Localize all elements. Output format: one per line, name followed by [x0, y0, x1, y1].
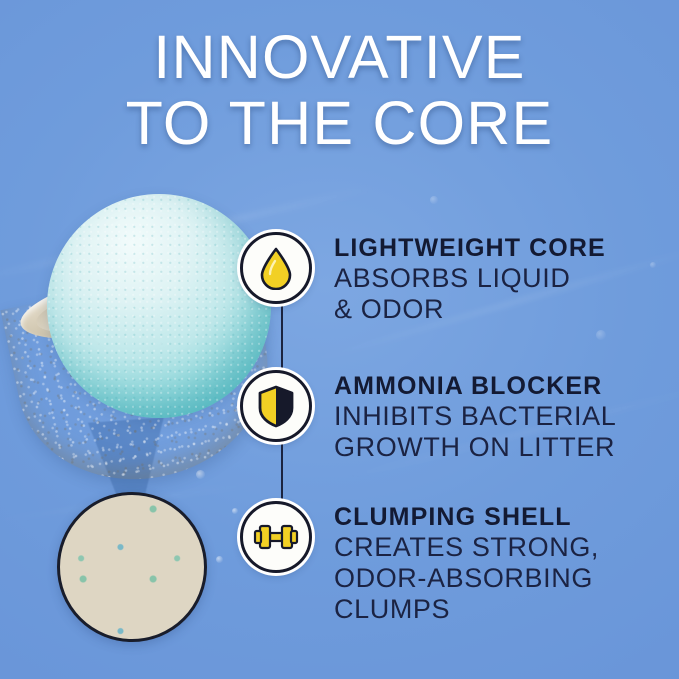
litter-granules-closeup: [57, 492, 207, 642]
feature-heading: LIGHTWEIGHT CORE: [334, 233, 606, 263]
lightweight-core-sphere: [47, 194, 271, 418]
droplet-icon: [240, 232, 312, 304]
feature-body: INHIBITS BACTERIAL GROWTH ON LITTER: [334, 401, 616, 463]
feature-heading: AMMONIA BLOCKER: [334, 371, 616, 401]
product-infographic: INNOVATIVE TO THE CORE LIGHTWEIGHT CORE …: [0, 0, 679, 679]
feature-clumping-shell: CLUMPING SHELL CREATES STRONG, ODOR-ABSO…: [240, 501, 599, 625]
feature-body: ABSORBS LIQUID & ODOR: [334, 263, 606, 325]
bokeh-dot: [430, 196, 438, 204]
feature-lightweight-core: LIGHTWEIGHT CORE ABSORBS LIQUID & ODOR: [240, 232, 606, 325]
feature-body: CREATES STRONG, ODOR-ABSORBING CLUMPS: [334, 532, 599, 625]
shield-icon: [240, 370, 312, 442]
dumbbell-icon: [240, 501, 312, 573]
feature-ammonia-blocker: AMMONIA BLOCKER INHIBITS BACTERIAL GROWT…: [240, 370, 616, 463]
page-title: INNOVATIVE TO THE CORE: [0, 24, 679, 156]
bokeh-dot: [596, 330, 606, 340]
feature-heading: CLUMPING SHELL: [334, 502, 599, 532]
bokeh-dot: [650, 262, 656, 268]
